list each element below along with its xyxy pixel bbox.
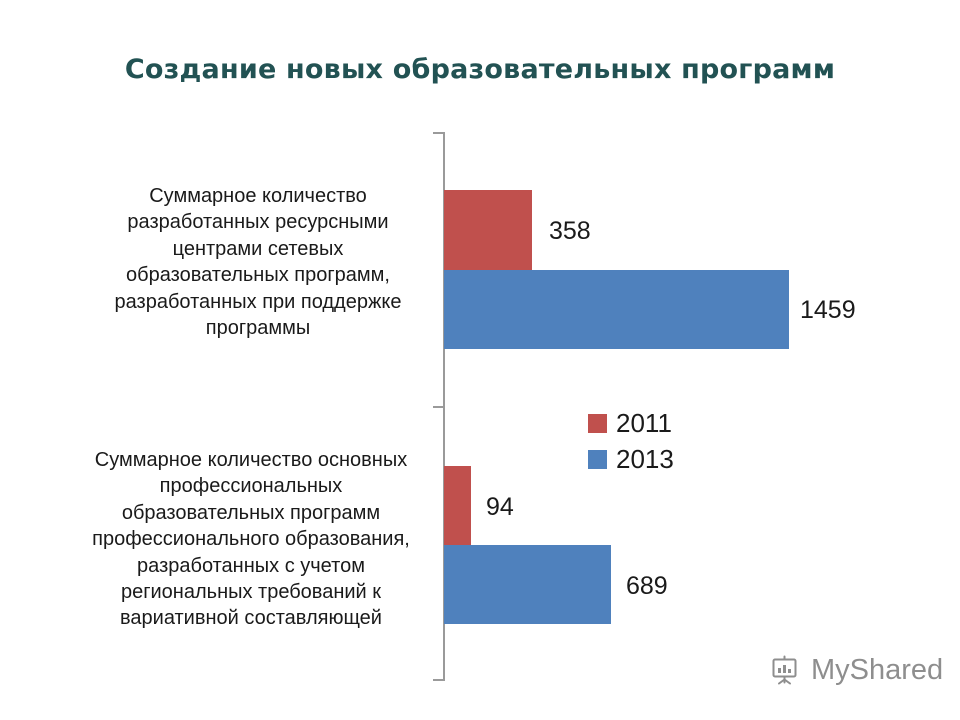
category-label-1-line-3: центрами сетевых: [84, 236, 432, 262]
legend-item-2013[interactable]: 2013: [588, 441, 674, 477]
category-label-2-line-2: профессиональных: [70, 473, 432, 499]
bar-category1-series-2011[interactable]: [444, 190, 532, 270]
category-label-1-line-1: Суммарное количество: [84, 183, 432, 209]
axis-tick-middle: [433, 406, 444, 408]
category-label-1-line-2: разработанных ресурсными: [84, 209, 432, 235]
myshared-watermark: MyShared: [768, 652, 943, 688]
axis-tick-bottom: [433, 679, 444, 681]
data-label-category1-2013: 1459: [800, 298, 856, 323]
watermark-label: MyShared: [811, 656, 943, 685]
category-label-1: Суммарное количество разработанных ресур…: [84, 183, 432, 341]
category-label-2: Суммарное количество основных профессион…: [70, 447, 432, 632]
legend-label-2011: 2011: [616, 410, 672, 436]
category-label-1-line-4: образовательных программ,: [84, 262, 432, 288]
chart-legend: 2011 2013: [588, 405, 674, 477]
axis-tick-top: [433, 132, 444, 134]
slide-canvas: Создание новых образовательных программ …: [0, 0, 960, 720]
legend-item-2011[interactable]: 2011: [588, 405, 674, 441]
category-label-2-line-3: образовательных программ: [70, 500, 432, 526]
data-label-category1-2011: 358: [549, 219, 591, 244]
category-label-2-line-5: разработанных с учетом: [70, 553, 432, 579]
category-label-2-line-1: Суммарное количество основных: [70, 447, 432, 473]
bar-category1-series-2013[interactable]: [444, 270, 789, 349]
category-label-1-line-5: разработанных при поддержке: [84, 289, 432, 315]
presentation-chart-icon: [768, 652, 804, 688]
legend-swatch-2013-icon: [588, 450, 607, 469]
data-label-category2-2011: 94: [486, 495, 514, 520]
bar-chart: 358 1459 94 689 Суммарное количество раз…: [0, 0, 960, 720]
category-label-2-line-7: вариативной составляющей: [70, 605, 432, 631]
data-label-category2-2013: 689: [626, 574, 668, 599]
bar-category2-series-2011[interactable]: [444, 466, 471, 545]
category-label-1-line-6: программы: [84, 315, 432, 341]
bar-category2-series-2013[interactable]: [444, 545, 611, 624]
category-label-2-line-4: профессионального образования,: [70, 526, 432, 552]
legend-label-2013: 2013: [616, 446, 674, 472]
legend-swatch-2011-icon: [588, 414, 607, 433]
category-label-2-line-6: региональных требований к: [70, 579, 432, 605]
